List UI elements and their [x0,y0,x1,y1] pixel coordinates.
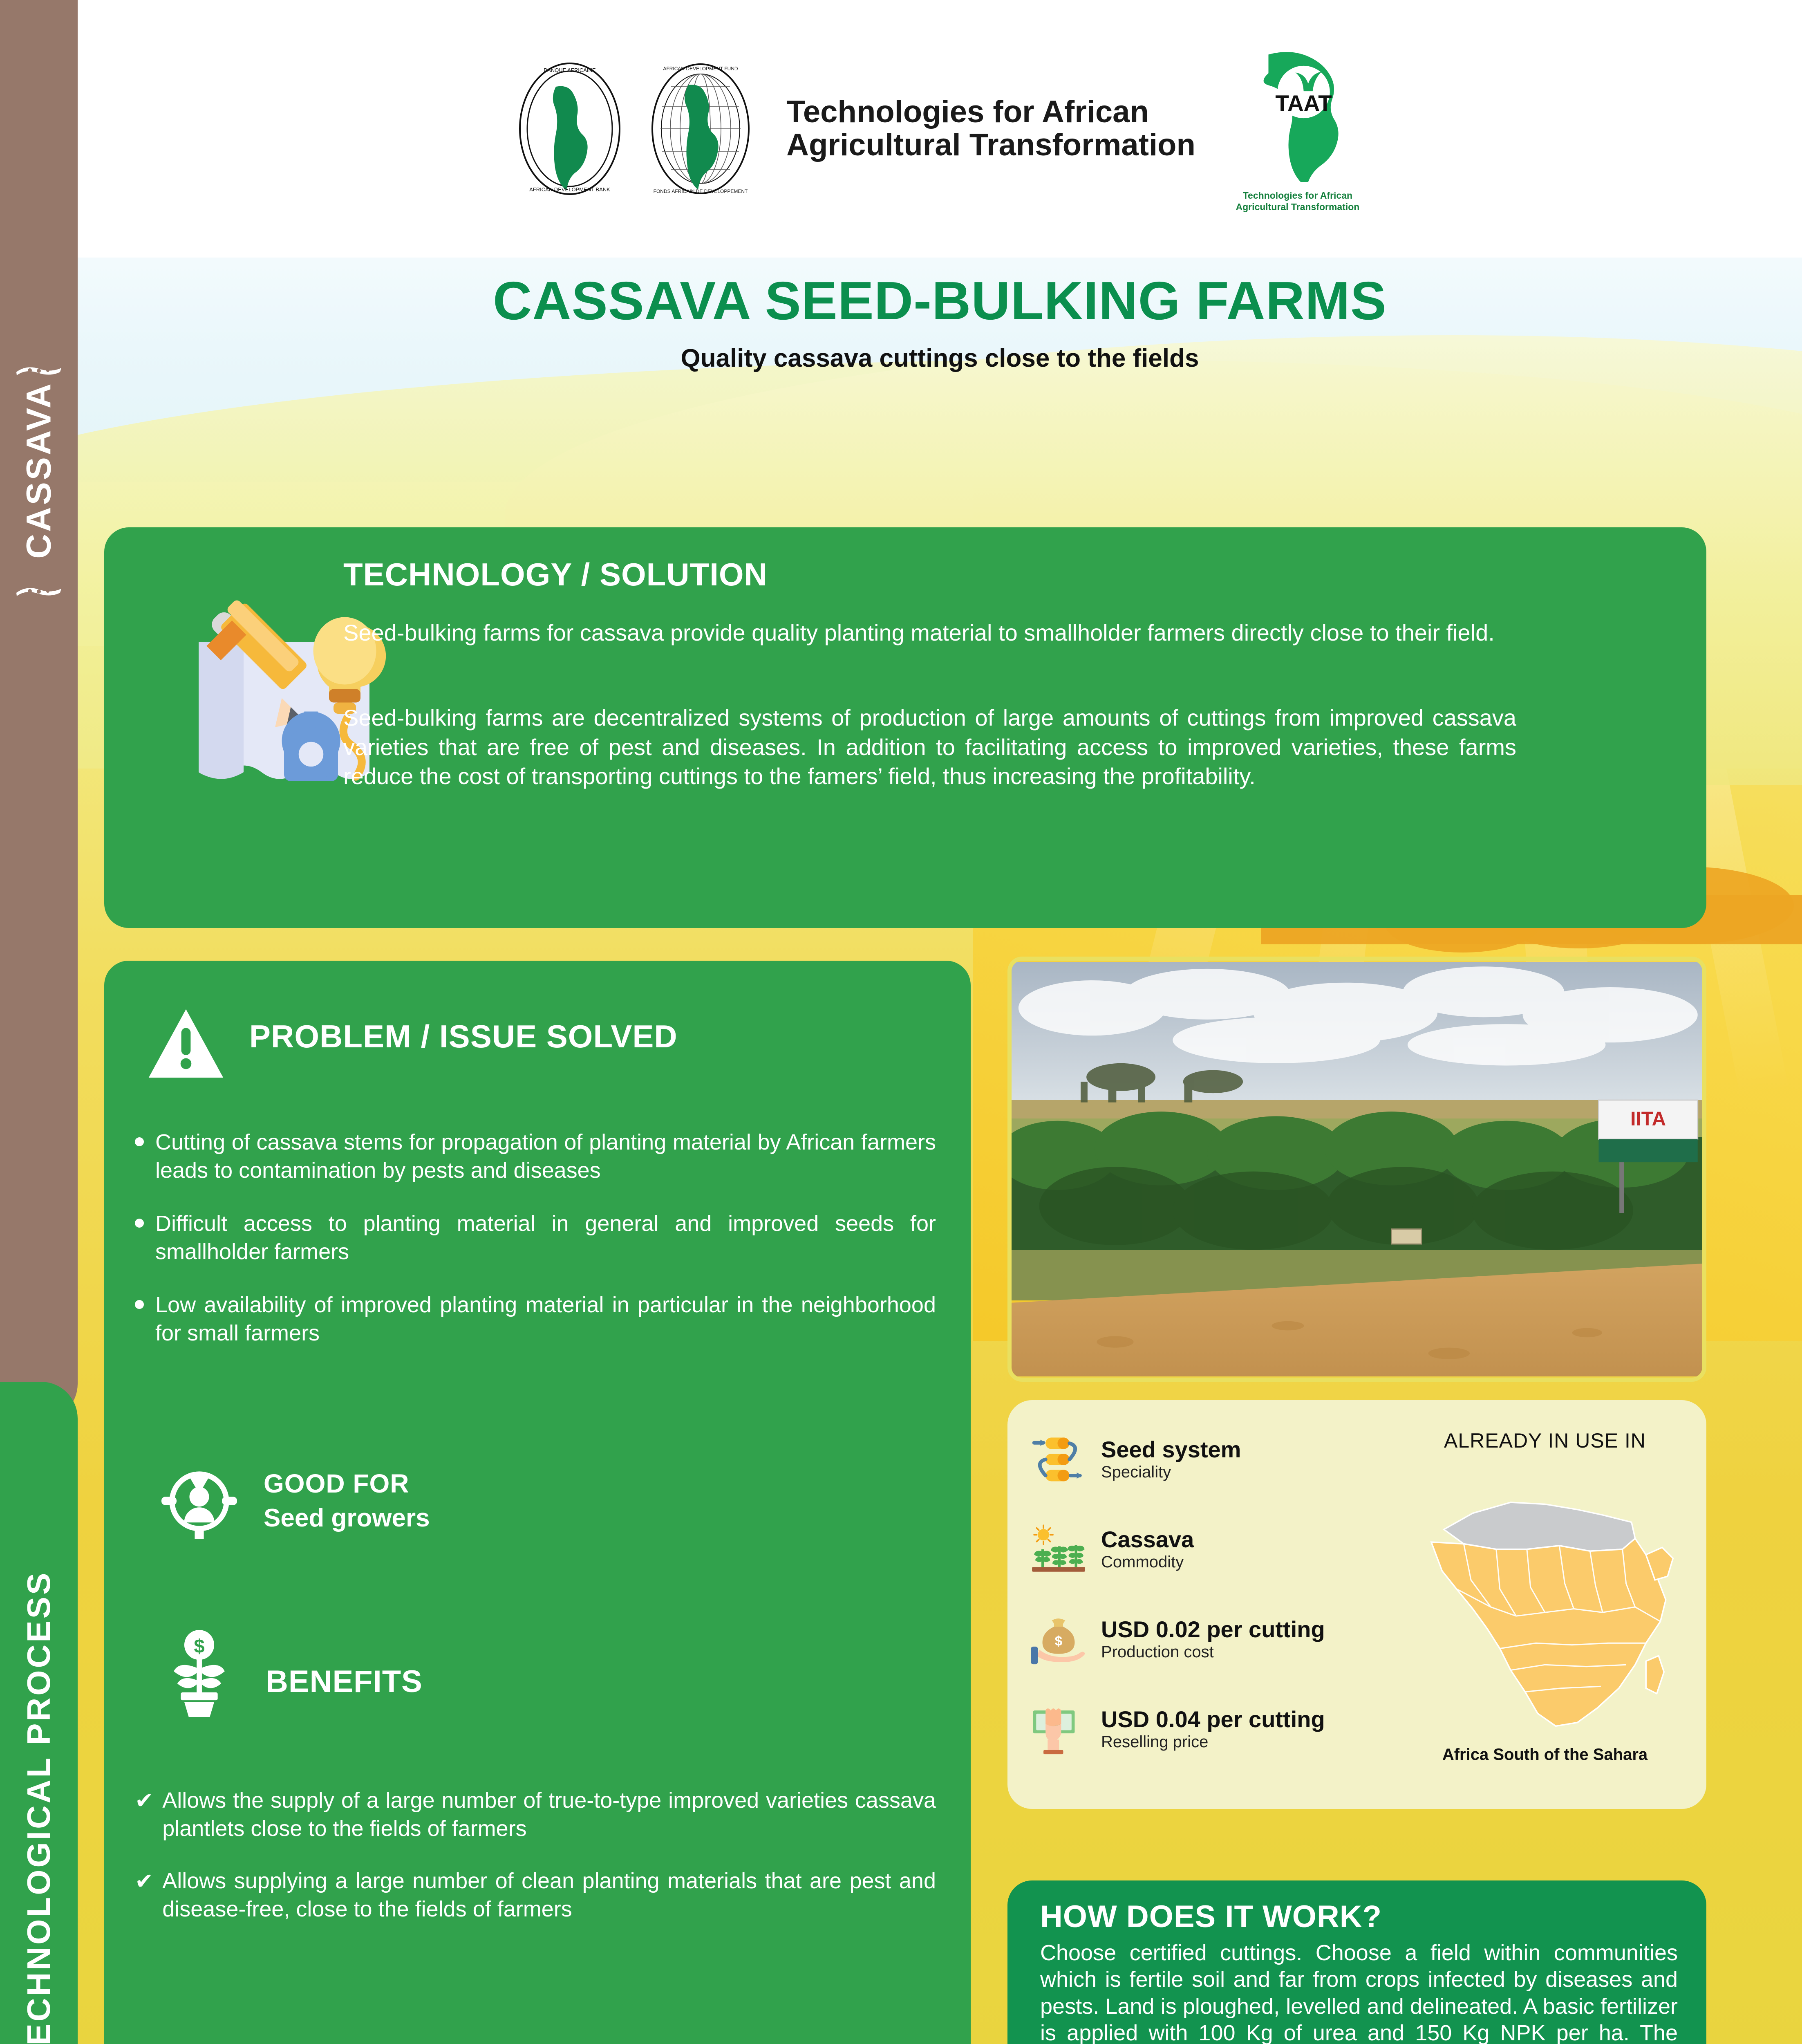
page-subtitle: Quality cassava cuttings close to the fi… [78,344,1802,373]
map-caption: Africa South of the Sahara [1398,1746,1692,1764]
taat-tagline-line2: Agricultural Transformation [1232,201,1363,213]
taat-tagline-line1: Technologies for African [1232,190,1363,202]
header-org-line2: Agricultural Transformation [786,129,1195,162]
spec-text: Seed system Speciality [1101,1438,1241,1481]
check-icon: ✔ [135,1790,153,1842]
list-item: Low availability of improved planting ma… [135,1291,936,1347]
poster-header: BANQUE AFRICAINE AFRICAN DEVELOPMENT BAN… [78,0,1802,258]
spec-value: USD 0.02 per cutting [1101,1618,1325,1642]
good-for-heading: GOOD FOR [264,1468,409,1499]
svg-text:FONDS AFRICAIN DE DEVELOPPEMEN: FONDS AFRICAIN DE DEVELOPPEMENT [654,188,748,194]
africa-map [1402,1472,1688,1733]
problem-bullet-text: Difficult access to planting material in… [155,1210,936,1266]
svg-text:AFRICAN DEVELOPMENT FUND: AFRICAN DEVELOPMENT FUND [663,66,738,72]
spec-value: Cassava [1101,1528,1194,1552]
money-plant-icon: $ [168,1629,231,1717]
target-person-icon [161,1464,237,1539]
technology-heading: TECHNOLOGY / SOLUTION [343,556,768,593]
svg-text:BANQUE AFRICAINE: BANQUE AFRICAINE [544,67,596,73]
svg-text:AFRICAN DEVELOPMENT BANK: AFRICAN DEVELOPMENT BANK [529,186,610,193]
check-icon: ✔ [135,1870,153,1923]
map-heading: ALREADY IN USE IN [1398,1429,1692,1452]
money-bag-icon: $ [1030,1613,1087,1666]
banknote-icon [1030,1703,1087,1756]
spec-row-reselling-price: USD 0.04 per cutting Reselling price [1030,1692,1390,1766]
problem-bullet-text: Low availability of improved planting ma… [155,1291,936,1347]
benefits-list: ✔ Allows the supply of a large number of… [135,1786,936,1948]
benefit-text: Allows supplying a large number of clean… [162,1867,936,1923]
technology-paragraph-1: Seed-bulking farms for cassava provide q… [343,618,1516,648]
seed-system-icon [1030,1433,1087,1486]
benefits-heading: BENEFITS [266,1664,423,1699]
problem-heading: PROBLEM / ISSUE SOLVED [249,1018,678,1055]
spec-row-commodity: Cassava Commodity [1030,1513,1390,1586]
title-block: CASSAVA SEED-BULKING FARMS Quality cassa… [78,270,1802,373]
warning-triangle-icon [147,1008,225,1079]
afdb-logo: BANQUE AFRICAINE AFRICAN DEVELOPMENT BAN… [517,61,623,196]
map-region-north-africa [1444,1502,1635,1551]
how-text: Choose certified cuttings. Choose a fiel… [1040,1940,1678,2044]
spec-value: Seed system [1101,1438,1241,1462]
benefit-text: Allows the supply of a large number of t… [162,1786,936,1842]
technology-paragraph-2: Seed-bulking farms are decentralized sys… [343,703,1516,791]
spec-row-production-cost: $ USD 0.02 per cutting Production cost [1030,1602,1390,1676]
field-photo: IITA [1007,957,1706,1382]
page-title: CASSAVA SEED-BULKING FARMS [78,270,1802,332]
bullet-dot-icon [135,1300,144,1309]
spec-label: Reselling price [1101,1733,1325,1751]
list-item: ✔ Allows the supply of a large number of… [135,1786,936,1842]
map-region-madagascar [1646,1656,1664,1694]
spec-label: Speciality [1101,1463,1241,1481]
spec-text: USD 0.04 per cutting Reselling price [1101,1708,1325,1751]
problem-bullet-text: Cutting of cassava stems for propagation… [155,1128,936,1184]
good-for-value: Seed growers [264,1504,430,1533]
spec-label: Production cost [1101,1643,1325,1661]
taat-wordmark: TAAT [1275,90,1332,116]
taat-tagline: Technologies for African Agricultural Tr… [1232,190,1363,213]
spec-label: Commodity [1101,1553,1194,1571]
map-region-sub-saharan-africa [1431,1538,1666,1726]
spec-row-seed-system: Seed system Speciality [1030,1423,1390,1496]
bullet-dot-icon [135,1219,144,1228]
spec-value: USD 0.04 per cutting [1101,1708,1325,1732]
specification-rows: Seed system Speciality [1030,1423,1390,1782]
list-item: Difficult access to planting material in… [135,1210,936,1266]
header-org-line1: Technologies for African [786,96,1195,129]
adf-logo: AFRICAN DEVELOPMENT FUND FONDS AFRICAIN … [647,61,754,196]
how-heading: HOW DOES IT WORK? [1040,1899,1382,1934]
bullet-dot-icon [135,1137,144,1146]
taat-logo: TAAT Technologies for African Agricultur… [1232,47,1363,211]
header-org-name: Technologies for African Agricultural Tr… [786,96,1195,161]
svg-text:$: $ [194,1636,204,1657]
list-item: Cutting of cassava stems for propagation… [135,1128,936,1184]
cassava-crop-icon [1030,1523,1087,1576]
spec-text: USD 0.02 per cutting Production cost [1101,1618,1325,1661]
svg-text:IITA: IITA [1630,1108,1666,1130]
problem-bullet-list: Cutting of cassava stems for propagation… [135,1128,936,1372]
list-item: ✔ Allows supplying a large number of cle… [135,1867,936,1923]
spec-text: Cassava Commodity [1101,1528,1194,1571]
svg-text:$: $ [1055,1634,1062,1649]
